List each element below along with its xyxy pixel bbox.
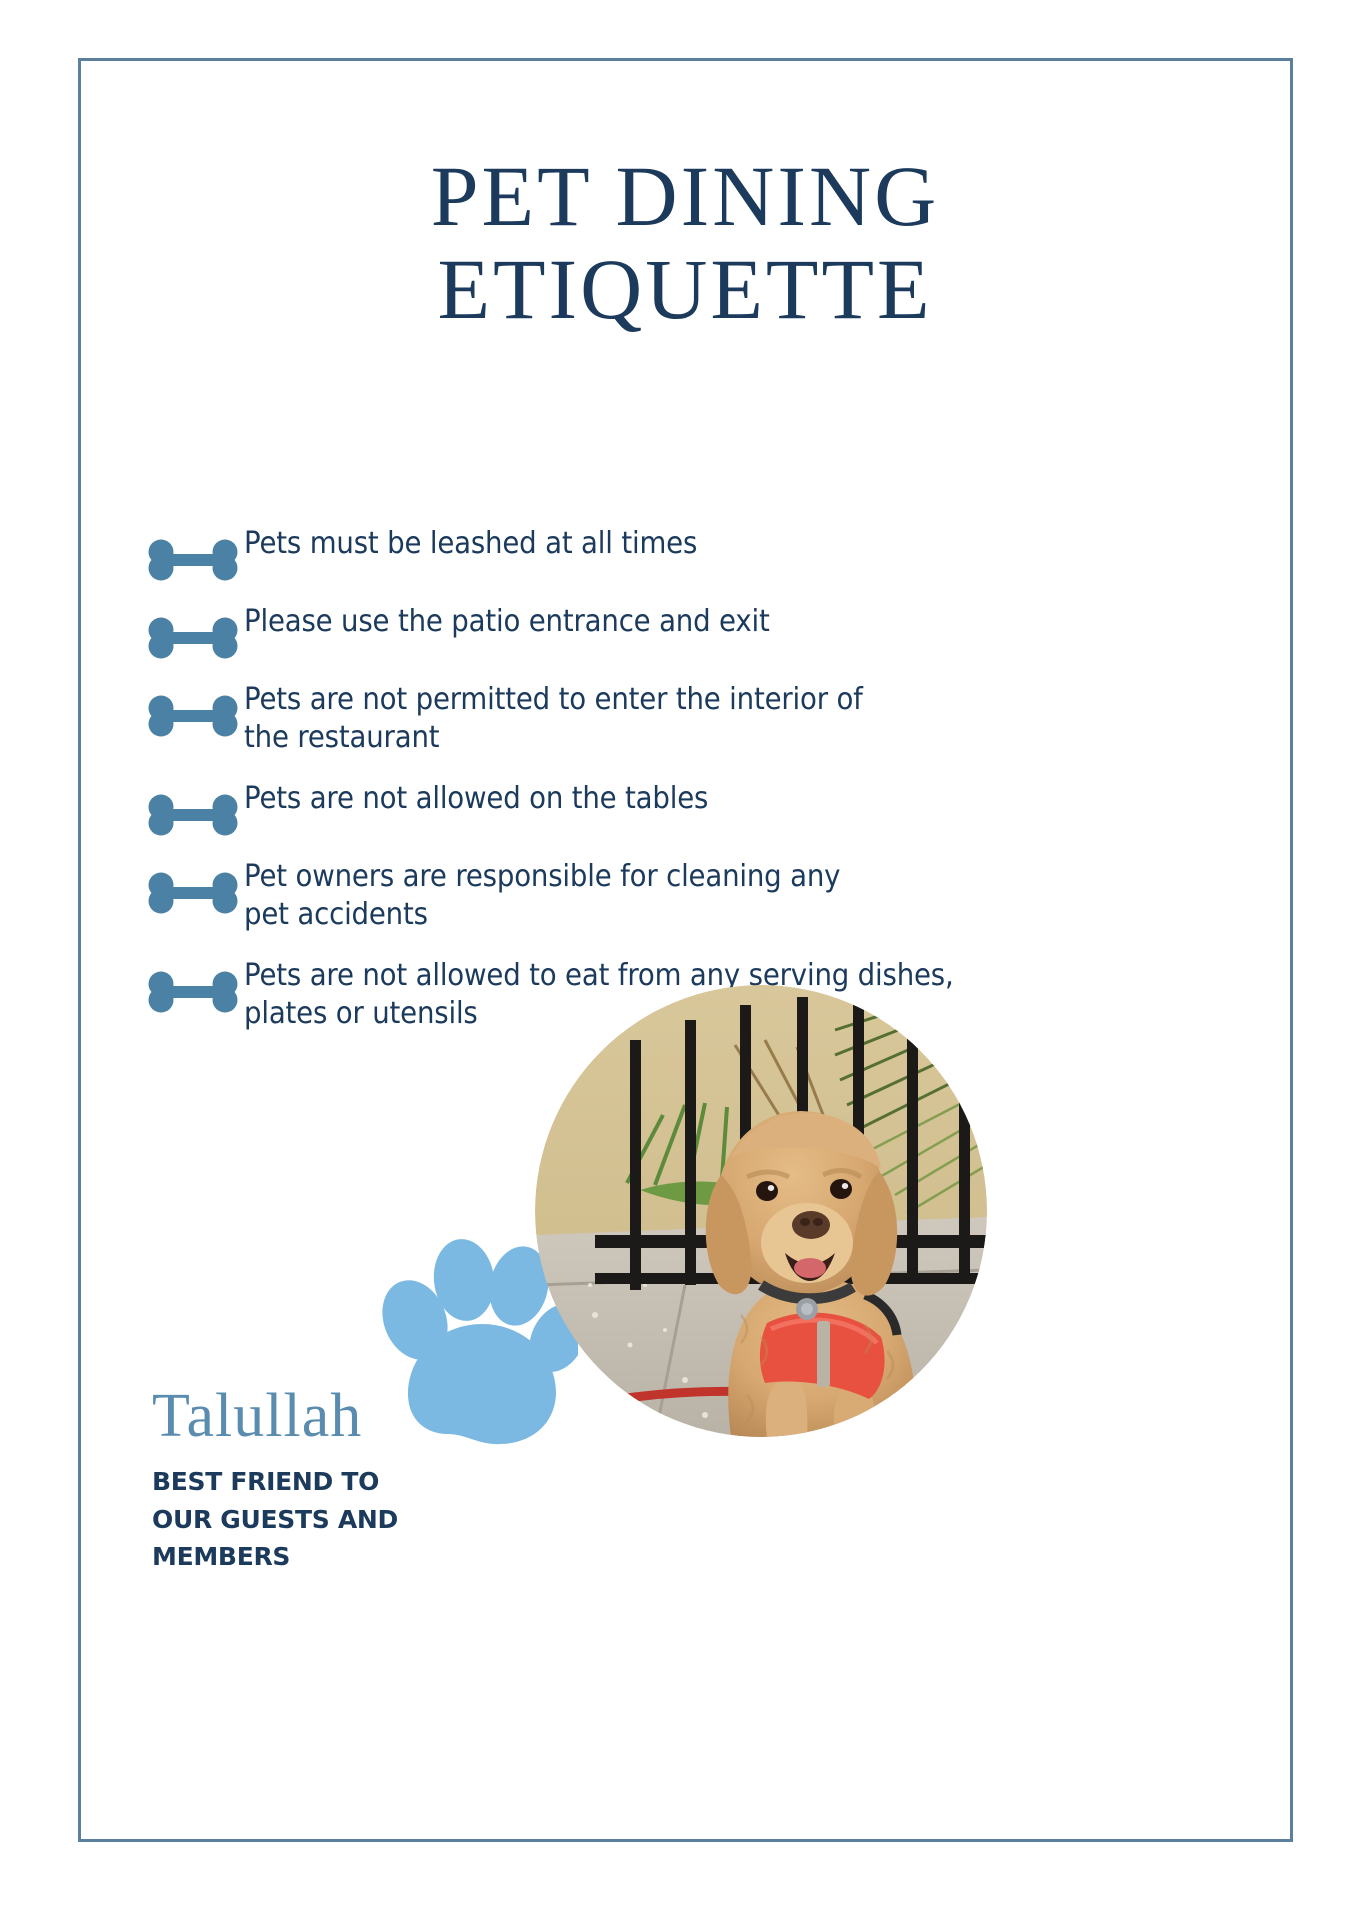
page-title: PET DINING ETIQUETTE xyxy=(140,150,1230,336)
bone-icon xyxy=(148,525,244,581)
signature-block: Talullah BEST FRIEND TO OUR GUESTS AND M… xyxy=(152,1385,532,1576)
rule-text: Pet owners are responsible for cleaning … xyxy=(244,858,1076,935)
list-item: Pets must be leashed at all times xyxy=(148,525,1148,581)
bone-icon xyxy=(148,858,244,914)
rule-text: Pets are not allowed on the tables xyxy=(244,780,1076,818)
list-item: Pets are not permitted to enter the inte… xyxy=(148,681,1148,758)
rule-text: Pets must be leashed at all times xyxy=(244,525,1076,563)
dog-name: Talullah xyxy=(152,1385,532,1447)
rules-list: Pets must be leashed at all times Please… xyxy=(148,525,1148,1055)
rule-text: Pets are not permitted to enter the inte… xyxy=(244,681,1076,758)
list-item: Please use the patio entrance and exit xyxy=(148,603,1148,659)
bone-icon xyxy=(148,780,244,836)
bone-icon xyxy=(148,681,244,737)
bone-icon xyxy=(148,957,244,1013)
rule-text: Please use the patio entrance and exit xyxy=(244,603,1076,641)
bone-icon xyxy=(148,603,244,659)
poster-canvas: PET DINING ETIQUETTE Pets must be leashe… xyxy=(0,0,1372,1920)
list-item: Pets are not allowed on the tables xyxy=(148,780,1148,836)
dog-caption: BEST FRIEND TO OUR GUESTS AND MEMBERS xyxy=(152,1463,532,1576)
list-item: Pet owners are responsible for cleaning … xyxy=(148,858,1148,935)
dog-photo xyxy=(535,985,987,1437)
title-line-2: ETIQUETTE xyxy=(140,243,1230,336)
title-line-1: PET DINING xyxy=(140,150,1230,243)
